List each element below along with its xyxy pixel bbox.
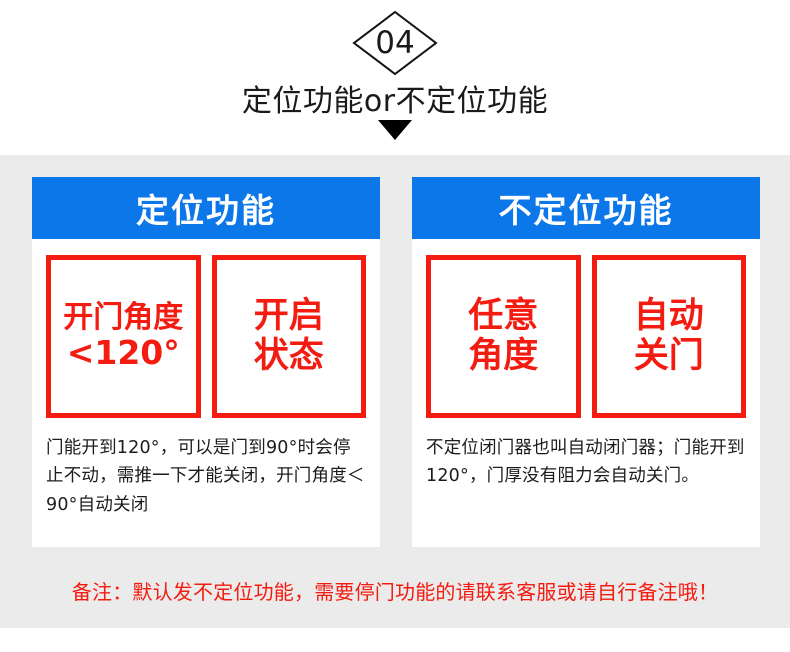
feature-box-row-right: 任意 角度 自动 关门 (426, 255, 746, 418)
section-number-label: 04 (351, 10, 439, 76)
panel-header-positioning: 定位功能 (32, 177, 380, 239)
feature-box-auto-close: 自动 关门 (592, 255, 747, 418)
panel-positioning: 定位功能 开门角度 <120° 开启 状态 门能开到120°，可以是门到90°时… (32, 177, 380, 547)
feature-box-line1: 开门角度 (63, 301, 183, 335)
feature-box-open-angle: 开门角度 <120° (46, 255, 201, 418)
panel-non-positioning: 不定位功能 任意 角度 自动 关门 不定位闭门器也叫自动闭门器；门能开到120°… (412, 177, 760, 547)
bottom-spacer (0, 628, 790, 652)
comparison-panels: 定位功能 开门角度 <120° 开启 状态 门能开到120°，可以是门到90°时… (32, 177, 760, 547)
page-title: 定位功能or不定位功能 (0, 76, 790, 120)
feature-box-line2: 状态 (254, 337, 324, 376)
panel-body-non-positioning: 任意 角度 自动 关门 不定位闭门器也叫自动闭门器；门能开到120°，门厚没有阻… (412, 239, 760, 547)
section-number-badge: 04 (351, 10, 439, 76)
footer-note: 备注：默认发不定位功能，需要停门功能的请联系客服或请自行备注哦！ (0, 576, 790, 605)
feature-box-line2: 关门 (634, 337, 704, 376)
feature-box-row-left: 开门角度 <120° 开启 状态 (46, 255, 366, 418)
panel-body-positioning: 开门角度 <120° 开启 状态 门能开到120°，可以是门到90°时会停止不动… (32, 239, 380, 547)
feature-box-line1: 自动 (634, 297, 704, 336)
feature-box-any-angle: 任意 角度 (426, 255, 581, 418)
feature-box-line1: 开启 (254, 297, 324, 336)
triangle-down-icon (378, 120, 412, 140)
feature-box-open-state: 开启 状态 (212, 255, 367, 418)
header-band: 04 定位功能or不定位功能 (0, 0, 790, 155)
feature-box-line2: <120° (67, 335, 180, 372)
panel-description-non-positioning: 不定位闭门器也叫自动闭门器；门能开到120°，门厚没有阻力会自动关门。 (426, 434, 746, 491)
panel-description-positioning: 门能开到120°，可以是门到90°时会停止不动，需推一下才能关闭，开门角度＜90… (46, 434, 366, 519)
panel-header-non-positioning: 不定位功能 (412, 177, 760, 239)
feature-box-line1: 任意 (468, 297, 538, 336)
feature-box-line2: 角度 (468, 337, 538, 376)
